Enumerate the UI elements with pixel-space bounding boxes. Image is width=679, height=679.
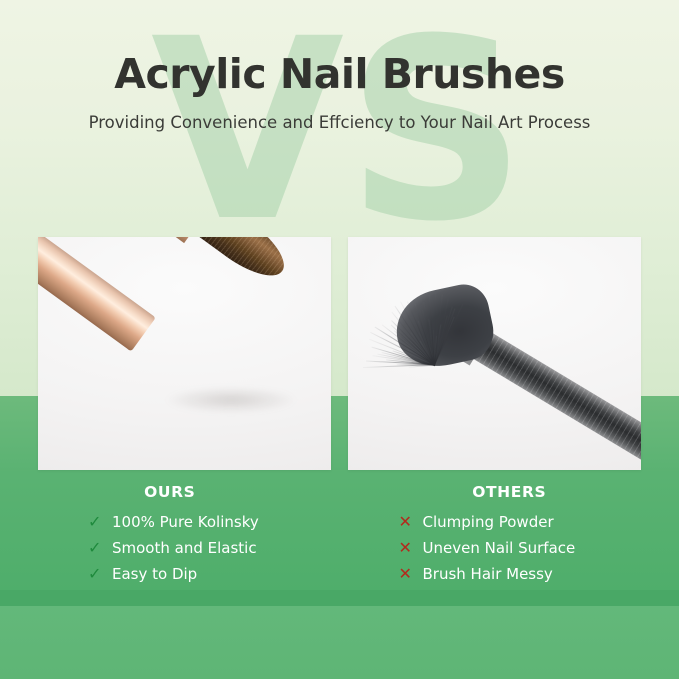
feature-label: Brush Hair Messy [423,561,553,587]
list-item: ✕ Brush Hair Messy [399,561,679,587]
page-title: Acrylic Nail Brushes [0,0,679,98]
product-photo-others [348,237,641,470]
list-item: ✕ Uneven Nail Surface [399,535,679,561]
feature-label: 100% Pure Kolinsky [112,509,259,535]
header: Acrylic Nail Brushes Providing Convenien… [0,0,679,134]
cross-icon: ✕ [399,509,423,535]
brush-frayed-strands [378,267,508,377]
column-heading-ours: OURS [0,482,340,502]
cross-icon: ✕ [399,561,423,587]
list-item: ✓ Easy to Dip [88,561,340,587]
check-icon: ✓ [88,535,112,561]
feature-list-ours: ✓ 100% Pure Kolinsky ✓ Smooth and Elasti… [0,509,340,587]
list-item: ✓ 100% Pure Kolinsky [88,509,340,535]
brush-shadow-ours [166,387,296,413]
feature-label: Easy to Dip [112,561,197,587]
green-band-divider [0,590,679,606]
comparison-column-others: OTHERS ✕ Clumping Powder ✕ Uneven Nail S… [340,482,679,587]
check-icon: ✓ [88,509,112,535]
page-subtitle: Providing Convenience and Effciency to Y… [0,98,679,134]
feature-list-others: ✕ Clumping Powder ✕ Uneven Nail Surface … [340,509,679,587]
product-photo-ours [38,237,331,470]
infographic-root: VS Acrylic Nail Brushes Providing Conven… [0,0,679,679]
green-band-footer [0,606,679,679]
feature-label: Smooth and Elastic [112,535,257,561]
comparison-columns: OURS ✓ 100% Pure Kolinsky ✓ Smooth and E… [0,482,679,587]
list-item: ✕ Clumping Powder [399,509,679,535]
feature-label: Clumping Powder [423,509,554,535]
column-heading-others: OTHERS [340,482,679,502]
check-icon: ✓ [88,561,112,587]
feature-label: Uneven Nail Surface [423,535,576,561]
comparison-column-ours: OURS ✓ 100% Pure Kolinsky ✓ Smooth and E… [0,482,340,587]
cross-icon: ✕ [399,535,423,561]
list-item: ✓ Smooth and Elastic [88,535,340,561]
